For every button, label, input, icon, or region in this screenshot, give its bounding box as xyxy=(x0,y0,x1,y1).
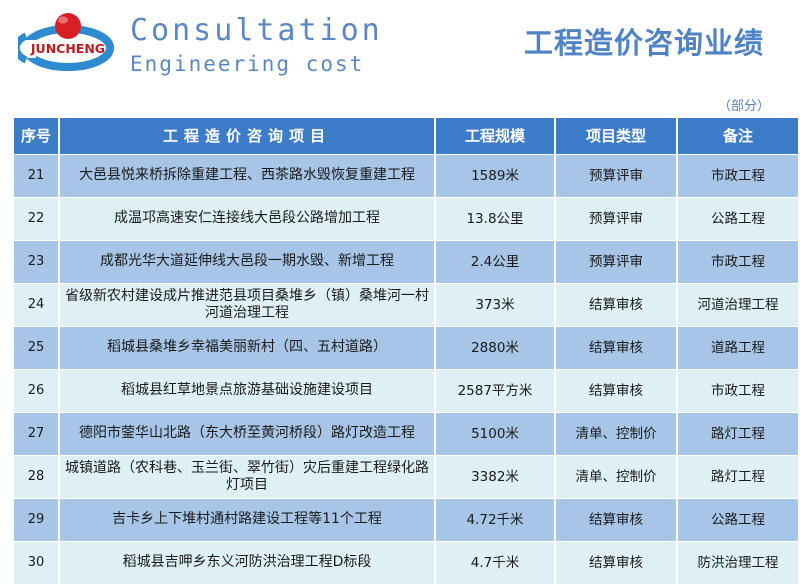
cell-scale: 373米 xyxy=(436,284,554,326)
table-row: 22成温邛高速安仁连接线大邑段公路增加工程13.8公里预算评审公路工程 xyxy=(14,198,798,240)
company-logo: JUNCHENG xyxy=(0,0,130,72)
juncheng-logo-icon: JUNCHENG xyxy=(18,10,118,72)
cell-type: 结算审核 xyxy=(556,284,676,326)
cell-project: 省级新农村建设成片推进范县项目桑堆乡（镇）桑堆河一村河道治理工程 xyxy=(60,284,434,326)
column-header-no: 序号 xyxy=(14,118,58,154)
table-row: 25稻城县桑堆乡幸福美丽新村（四、五村道路）2880米结算审核道路工程 xyxy=(14,327,798,369)
column-header-scale: 工程规模 xyxy=(436,118,554,154)
logo-wordmark: JUNCHENG xyxy=(30,41,105,56)
cell-scale: 2880米 xyxy=(436,327,554,369)
cell-type: 清单、控制价 xyxy=(556,413,676,455)
cell-project: 吉卡乡上下堆村通村路建设工程等11个工程 xyxy=(60,499,434,541)
title-area: 工程造价咨询业绩 xyxy=(383,0,800,62)
cell-type: 结算审核 xyxy=(556,327,676,369)
cell-project: 城镇道路（农科巷、玉兰街、翠竹街）灾后重建工程绿化路灯项目 xyxy=(60,456,434,498)
cell-type: 结算审核 xyxy=(556,370,676,412)
cell-no: 26 xyxy=(14,370,58,412)
cell-scale: 2587平方米 xyxy=(436,370,554,412)
cell-no: 25 xyxy=(14,327,58,369)
cell-scale: 4.72千米 xyxy=(436,499,554,541)
brand-text: Consultation Engineering cost xyxy=(130,0,383,78)
cell-project: 稻城县吉呷乡东义河防洪治理工程D标段 xyxy=(60,542,434,584)
subnote-row: （部分） xyxy=(0,95,800,117)
column-header-project: 工程造价咨询项目 xyxy=(60,118,434,154)
table-row: 23成都光华大道延伸线大邑段一期水毁、新增工程2.4公里预算评审市政工程 xyxy=(14,241,798,283)
cell-project: 稻城县红草地景点旅游基础设施建设项目 xyxy=(60,370,434,412)
cell-no: 29 xyxy=(14,499,58,541)
cell-no: 30 xyxy=(14,542,58,584)
column-header-type: 项目类型 xyxy=(556,118,676,154)
cell-type: 预算评审 xyxy=(556,198,676,240)
cell-no: 22 xyxy=(14,198,58,240)
cell-type: 结算审核 xyxy=(556,542,676,584)
cell-scale: 13.8公里 xyxy=(436,198,554,240)
table-header: 序号 工程造价咨询项目 工程规模 项目类型 备注 xyxy=(14,118,798,154)
cell-scale: 4.7千米 xyxy=(436,542,554,584)
cell-scale: 3382米 xyxy=(436,456,554,498)
table-row: 21大邑县悦来桥拆除重建工程、西茶路水毁恢复重建工程1589米预算评审市政工程 xyxy=(14,155,798,197)
brand-line-consultation: Consultation xyxy=(130,14,383,49)
cell-type: 清单、控制价 xyxy=(556,456,676,498)
table-row: 24省级新农村建设成片推进范县项目桑堆乡（镇）桑堆河一村河道治理工程373米结算… xyxy=(14,284,798,326)
page-title: 工程造价咨询业绩 xyxy=(383,20,764,62)
cell-note: 公路工程 xyxy=(678,499,798,541)
cell-scale: 5100米 xyxy=(436,413,554,455)
table-row: 27德阳市蓥华山北路（东大桥至黄河桥段）路灯改造工程5100米清单、控制价路灯工… xyxy=(14,413,798,455)
cell-note: 公路工程 xyxy=(678,198,798,240)
table-header-row: 序号 工程造价咨询项目 工程规模 项目类型 备注 xyxy=(14,118,798,154)
page-header: JUNCHENG Consultation Engineering cost 工… xyxy=(0,0,800,95)
cell-note: 市政工程 xyxy=(678,370,798,412)
cell-project: 德阳市蓥华山北路（东大桥至黄河桥段）路灯改造工程 xyxy=(60,413,434,455)
table-row: 26稻城县红草地景点旅游基础设施建设项目2587平方米结算审核市政工程 xyxy=(14,370,798,412)
cell-note: 路灯工程 xyxy=(678,456,798,498)
table-body: 21大邑县悦来桥拆除重建工程、西茶路水毁恢复重建工程1589米预算评审市政工程2… xyxy=(14,155,798,584)
brand-line-engineering-cost: Engineering cost xyxy=(130,51,383,78)
cell-no: 21 xyxy=(14,155,58,197)
cell-note: 市政工程 xyxy=(678,241,798,283)
cell-no: 23 xyxy=(14,241,58,283)
cell-type: 预算评审 xyxy=(556,155,676,197)
cell-project: 稻城县桑堆乡幸福美丽新村（四、五村道路） xyxy=(60,327,434,369)
cell-no: 28 xyxy=(14,456,58,498)
cell-no: 27 xyxy=(14,413,58,455)
cell-note: 防洪治理工程 xyxy=(678,542,798,584)
cell-scale: 2.4公里 xyxy=(436,241,554,283)
cell-scale: 1589米 xyxy=(436,155,554,197)
table-row: 30稻城县吉呷乡东义河防洪治理工程D标段4.7千米结算审核防洪治理工程 xyxy=(14,542,798,584)
cell-project: 大邑县悦来桥拆除重建工程、西茶路水毁恢复重建工程 xyxy=(60,155,434,197)
table-row: 28城镇道路（农科巷、玉兰街、翠竹街）灾后重建工程绿化路灯项目3382米清单、控… xyxy=(14,456,798,498)
cell-project: 成都光华大道延伸线大邑段一期水毁、新增工程 xyxy=(60,241,434,283)
cell-note: 河道治理工程 xyxy=(678,284,798,326)
cell-note: 路灯工程 xyxy=(678,413,798,455)
performance-table: 序号 工程造价咨询项目 工程规模 项目类型 备注 21大邑县悦来桥拆除重建工程、… xyxy=(12,117,800,585)
cell-note: 道路工程 xyxy=(678,327,798,369)
cell-type: 结算审核 xyxy=(556,499,676,541)
partial-note: （部分） xyxy=(718,99,770,114)
cell-note: 市政工程 xyxy=(678,155,798,197)
cell-no: 24 xyxy=(14,284,58,326)
cell-type: 预算评审 xyxy=(556,241,676,283)
performance-table-wrapper: 序号 工程造价咨询项目 工程规模 项目类型 备注 21大邑县悦来桥拆除重建工程、… xyxy=(0,117,800,585)
column-header-note: 备注 xyxy=(678,118,798,154)
table-row: 29吉卡乡上下堆村通村路建设工程等11个工程4.72千米结算审核公路工程 xyxy=(14,499,798,541)
cell-project: 成温邛高速安仁连接线大邑段公路增加工程 xyxy=(60,198,434,240)
